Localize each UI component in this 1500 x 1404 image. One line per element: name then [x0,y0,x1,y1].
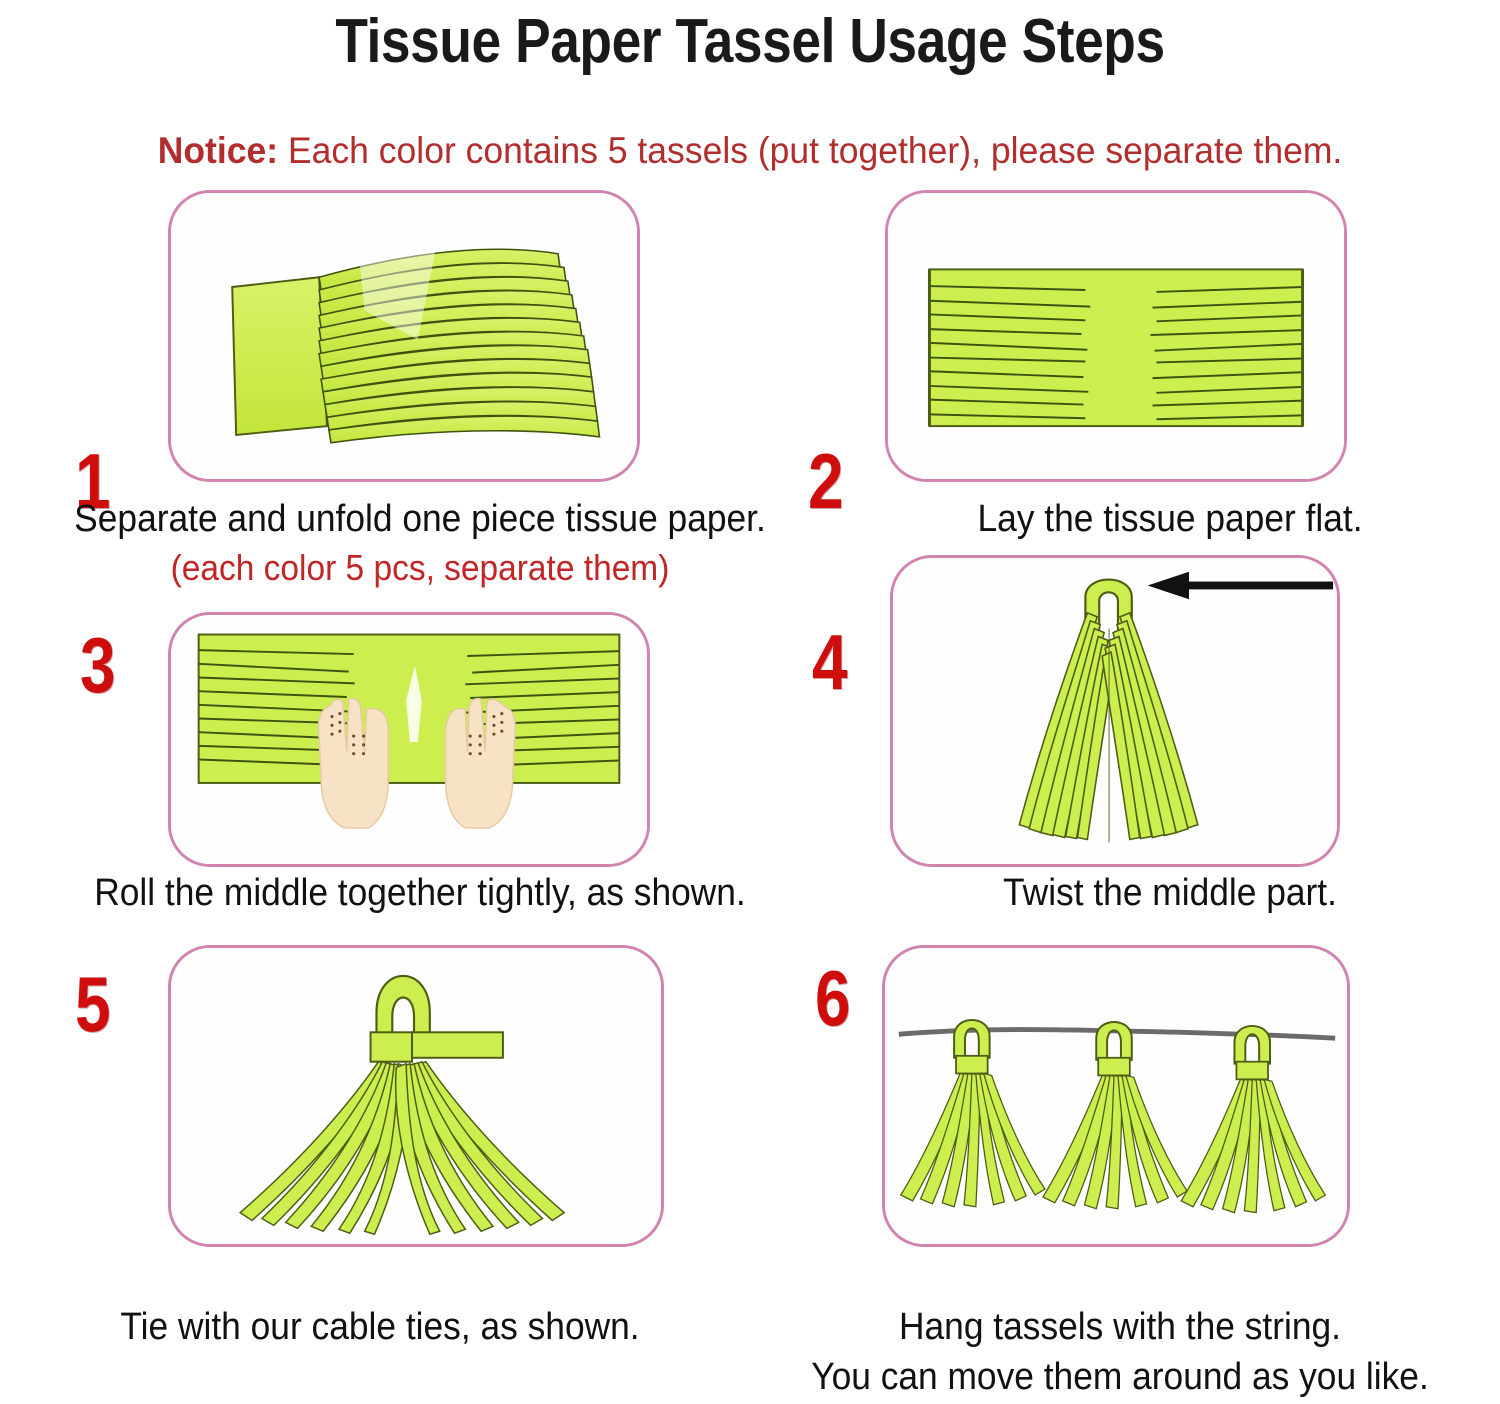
step-3: 3 [0,612,760,877]
step-6-number: 6 [815,959,851,1037]
step-3-caption: Roll the middle together tightly, as sho… [29,872,810,915]
fringed-tissue-sheet-unfolded-illustration [171,193,637,479]
step-1-caption: Separate and unfold one piece tissue pap… [29,498,810,541]
step-6-caption-sub: You can move them around as you like. [767,1356,1474,1399]
step-4: 4 [760,555,1500,877]
step-6-caption: Hang tassels with the string. [767,1306,1474,1349]
step-3-panel [168,612,650,867]
notice-label: Notice: [158,130,278,171]
tissue-sheet-laid-flat-illustration [888,193,1344,479]
step-6: 6 [760,945,1500,1255]
step-2-caption: Lay the tissue paper flat. [863,498,1477,541]
cable-tie-icon [371,1032,503,1061]
notice-line: Notice: Each color contains 5 tassels (p… [30,130,1470,172]
step-4-caption: Twist the middle part. [863,872,1477,915]
right-hand-icon [446,698,516,827]
hands-rolling-middle-illustration [171,615,647,864]
step-4-number: 4 [812,623,848,701]
step-1-caption-sub: (each color 5 pcs, separate them) [29,548,810,588]
step-1-panel [168,190,640,482]
folded-tassel-with-loop-illustration [893,558,1337,864]
step-5-caption: Tie with our cable ties, as shown. [27,1306,734,1349]
notice-text: Each color contains 5 tassels (put toget… [278,130,1342,171]
step-1: 1 [0,190,760,495]
step-5: 5 [0,945,760,1255]
step-5-number: 5 [75,965,111,1043]
tassel-tied-with-cable-tie-illustration [171,948,661,1244]
step-6-panel [882,945,1350,1247]
step-2-number: 2 [808,442,844,520]
step-3-number: 3 [80,626,116,704]
step-2-panel [885,190,1347,482]
three-tassels-hanging-illustration [885,948,1347,1244]
step-5-panel [168,945,664,1247]
page-title: Tissue Paper Tassel Usage Steps [105,6,1395,77]
left-hand-icon [318,698,388,827]
step-2: 2 [760,190,1500,495]
step-4-panel [890,555,1340,867]
instruction-poster: Tissue Paper Tassel Usage Steps Notice: … [0,0,1500,1404]
